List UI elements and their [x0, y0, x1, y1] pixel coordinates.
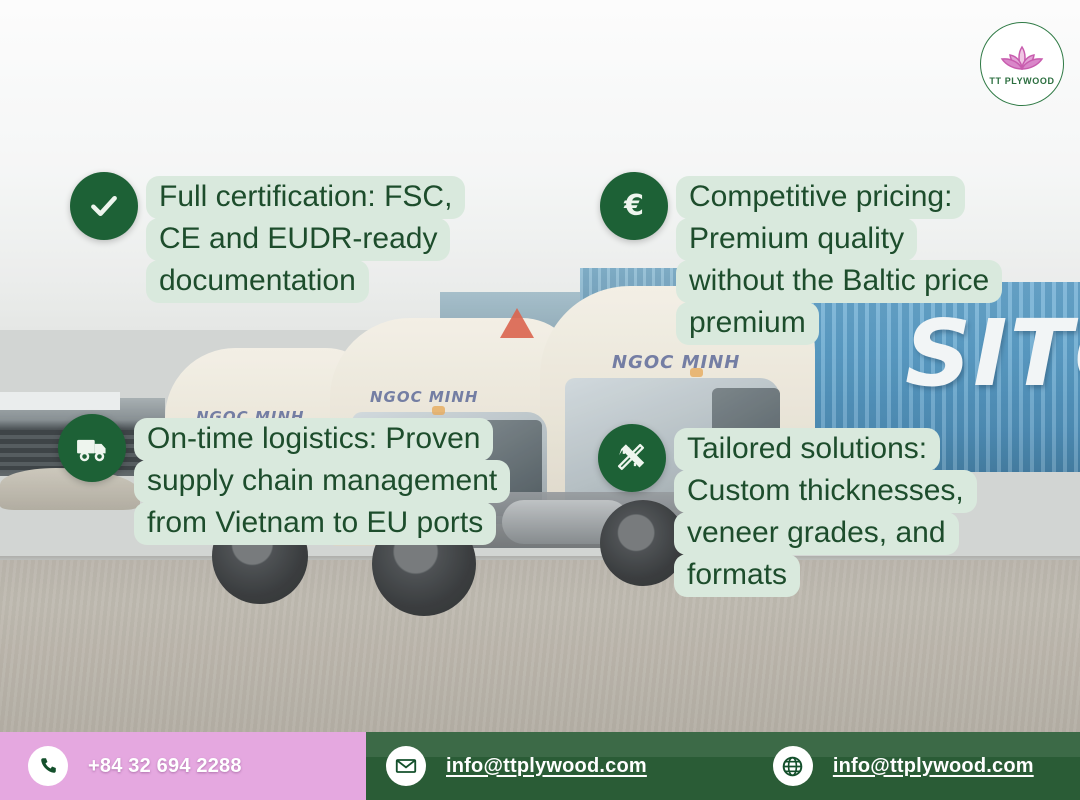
pencil-ruler-icon [613, 439, 651, 477]
callout-line: without the Baltic price [676, 260, 1002, 303]
background-photo: SITC NGOC MINH NGOC MINH NGOC MINH [0, 0, 1080, 800]
footer-phone-item[interactable]: +84 32 694 2288 [28, 746, 242, 786]
truck-badge [58, 414, 126, 482]
check-badge [70, 172, 138, 240]
check-icon [87, 189, 121, 223]
phone-number: +84 32 694 2288 [88, 755, 242, 778]
callout-line: CE and EUDR-ready [146, 218, 450, 261]
euro-icon: € [616, 188, 652, 224]
globe-icon [780, 754, 805, 779]
infographic-canvas: SITC NGOC MINH NGOC MINH NGOC MINH [0, 0, 1080, 800]
callout-text-bubble: Full certification: FSC, CE and EUDR-rea… [146, 172, 465, 302]
callout-on-time-logistics: On-time logistics: Proven supply chain m… [58, 414, 510, 544]
callout-line: premium [676, 302, 819, 345]
company-logo: TT PLYWOOD [980, 22, 1064, 106]
svg-text:€: € [623, 189, 644, 222]
envelope-icon [394, 754, 418, 778]
callout-text-bubble: Competitive pricing: Premium quality wit… [676, 172, 1002, 344]
callout-line: Custom thicknesses, [674, 470, 977, 513]
lotus-flower-icon [997, 43, 1047, 75]
callout-tailored-solutions: Tailored solutions: Custom thicknesses, … [598, 424, 977, 596]
logo-wordmark: TT PLYWOOD [989, 76, 1054, 86]
callout-text-bubble: Tailored solutions: Custom thicknesses, … [674, 424, 977, 596]
euro-badge: € [600, 172, 668, 240]
callout-competitive-pricing: € Competitive pricing: Premium quality w… [600, 172, 1002, 344]
footer-green-section: info@ttplywood.com info@ttplywood.com [366, 732, 1080, 800]
callout-line: Tailored solutions: [674, 428, 940, 471]
callout-line: Full certification: FSC, [146, 176, 465, 219]
footer-website-item[interactable]: info@ttplywood.com [773, 746, 1034, 786]
phone-icon [37, 755, 59, 777]
globe-icon-circle [773, 746, 813, 786]
callout-line: from Vietnam to EU ports [134, 502, 496, 545]
contact-footer: +84 32 694 2288 info@ttplywood.com [0, 732, 1080, 800]
email-address[interactable]: info@ttplywood.com [446, 755, 647, 778]
photo-overlay [0, 0, 1080, 800]
phone-icon-circle [28, 746, 68, 786]
callout-line: documentation [146, 260, 369, 303]
callout-line: Premium quality [676, 218, 917, 261]
envelope-icon-circle [386, 746, 426, 786]
footer-phone-section: +84 32 694 2288 [0, 732, 366, 800]
callout-line: Competitive pricing: [676, 176, 965, 219]
truck-icon [73, 429, 111, 467]
callout-full-certification: Full certification: FSC, CE and EUDR-rea… [70, 172, 465, 302]
callout-line: formats [674, 554, 800, 597]
callout-text-bubble: On-time logistics: Proven supply chain m… [134, 414, 510, 544]
website-address[interactable]: info@ttplywood.com [833, 755, 1034, 778]
callout-line: On-time logistics: Proven [134, 418, 493, 461]
callout-line: supply chain management [134, 460, 510, 503]
callout-line: veneer grades, and [674, 512, 959, 555]
pencil-ruler-badge [598, 424, 666, 492]
footer-email-item[interactable]: info@ttplywood.com [386, 746, 647, 786]
